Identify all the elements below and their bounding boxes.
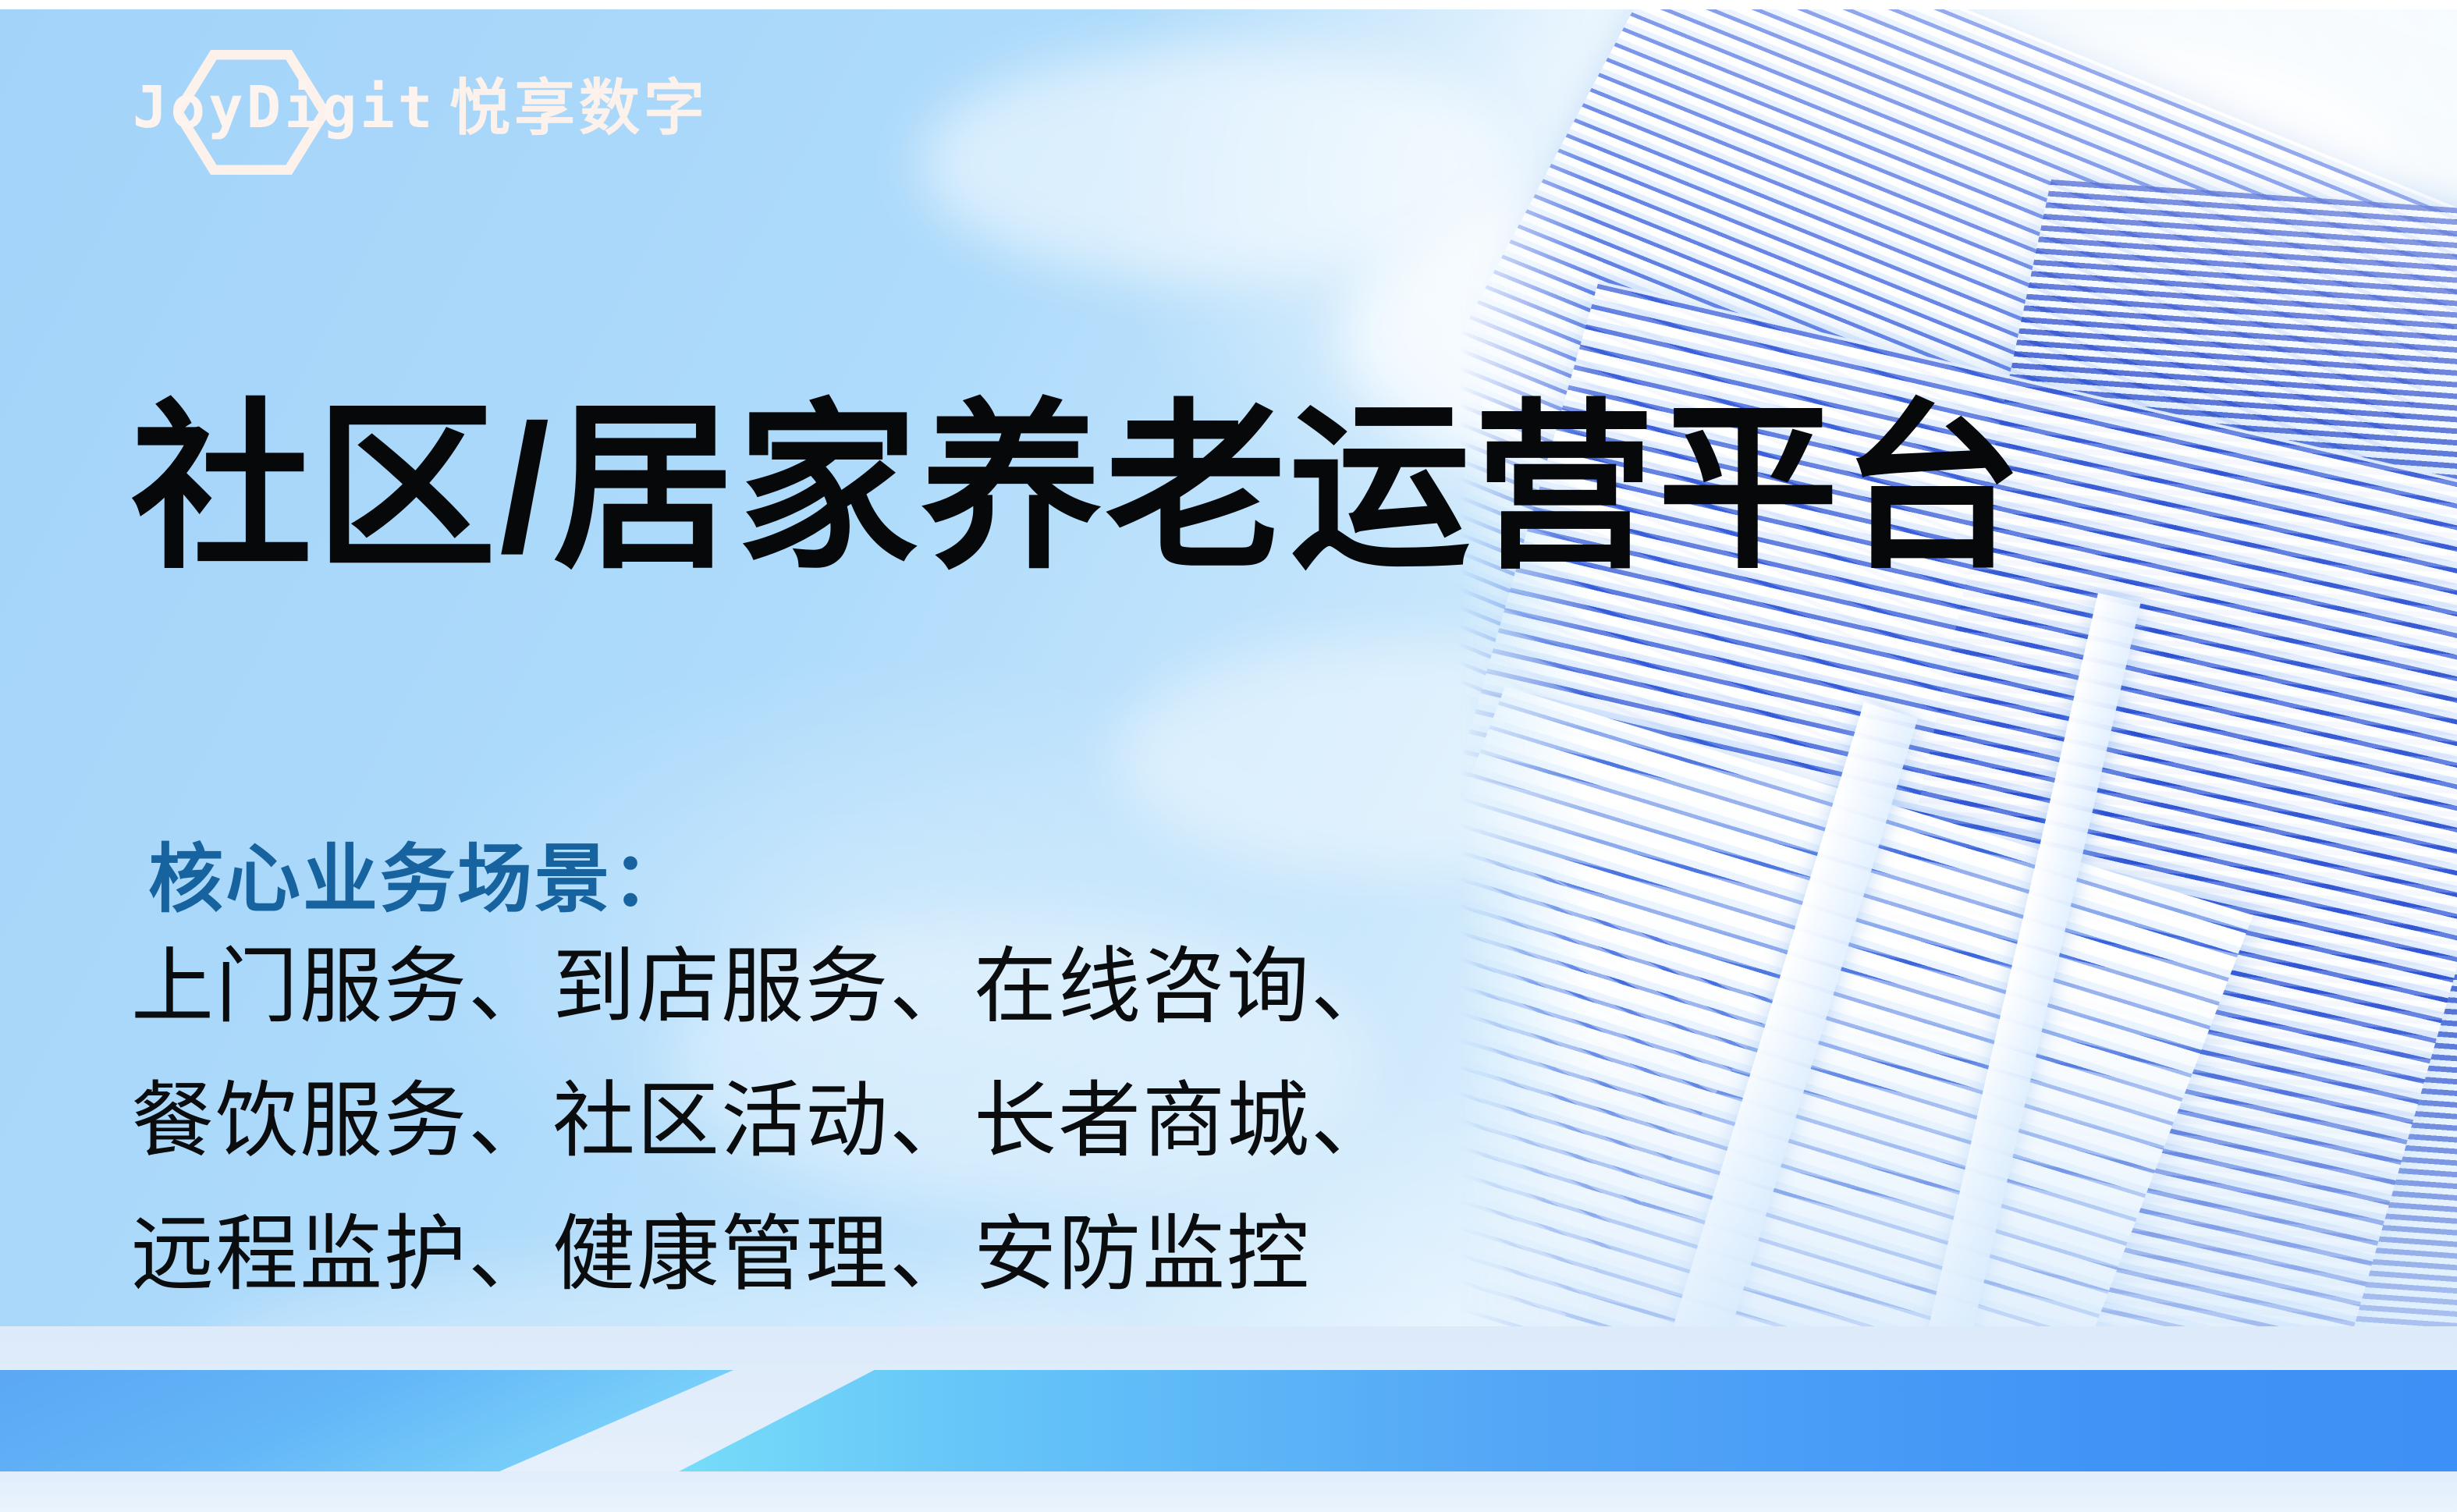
brand-logo: JoyDigit 悦享数字: [133, 61, 708, 154]
logo-mark: JoyDigit: [133, 61, 429, 154]
slide-canvas: JoyDigit 悦享数字 社区/居家养老运营平台 核心业务场景： 上门服务、到…: [0, 0, 2457, 1512]
banner-band-left: [0, 1370, 733, 1471]
logo-wordmark: JoyDigit: [133, 79, 435, 137]
logo-chinese-name: 悦享数字: [449, 77, 708, 138]
page-title: 社区/居家养老运营平台: [131, 394, 2026, 584]
banner-band-right: [679, 1370, 2457, 1471]
bottom-banner: [0, 1326, 2457, 1512]
top-white-strip: [0, 0, 2457, 9]
scene-list: 上门服务、到店服务、在线咨询、 餐饮服务、社区活动、长者商城、 远程监护、健康管…: [131, 921, 1395, 1322]
section-heading: 核心业务场景：: [148, 843, 689, 917]
scene-line: 远程监护、健康管理、安防监控: [131, 1188, 1395, 1322]
scene-line: 上门服务、到店服务、在线咨询、: [131, 921, 1395, 1055]
scene-line: 餐饮服务、社区活动、长者商城、: [131, 1055, 1395, 1189]
banner-bottom-strip: [0, 1471, 2457, 1512]
skyscraper-photo: [1458, 0, 2457, 1404]
